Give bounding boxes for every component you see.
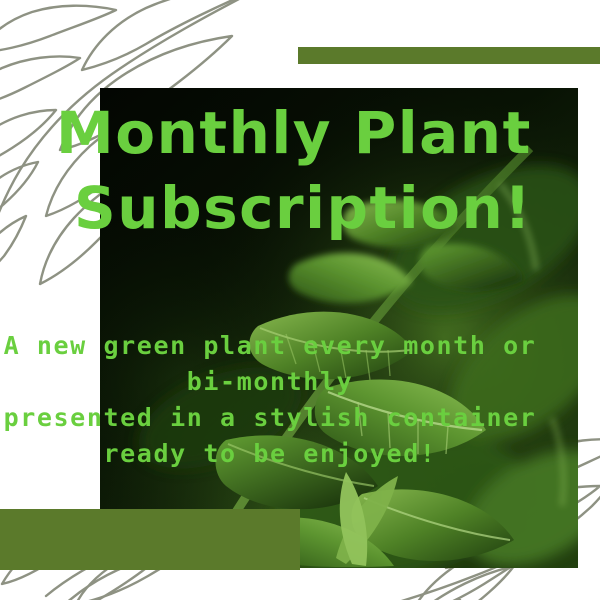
headline-line-1: Monthly Plant <box>56 96 556 171</box>
headline-line-2: Subscription! <box>56 171 556 246</box>
body-copy-line-3: presented in a stylish container <box>0 400 540 436</box>
headline: Monthly Plant Subscription! <box>56 96 556 246</box>
body-copy-line-1: A new green plant every month or <box>0 328 540 364</box>
poster-canvas: Monthly Plant Subscription! A new green … <box>0 0 600 600</box>
olive-accent-bar-top <box>298 47 600 64</box>
body-copy-line-2: bi-monthly <box>0 364 540 400</box>
body-copy: A new green plant every month or bi-mont… <box>0 328 540 472</box>
olive-accent-bar-bottom <box>0 509 300 570</box>
body-copy-line-4: ready to be enjoyed! <box>0 436 540 472</box>
